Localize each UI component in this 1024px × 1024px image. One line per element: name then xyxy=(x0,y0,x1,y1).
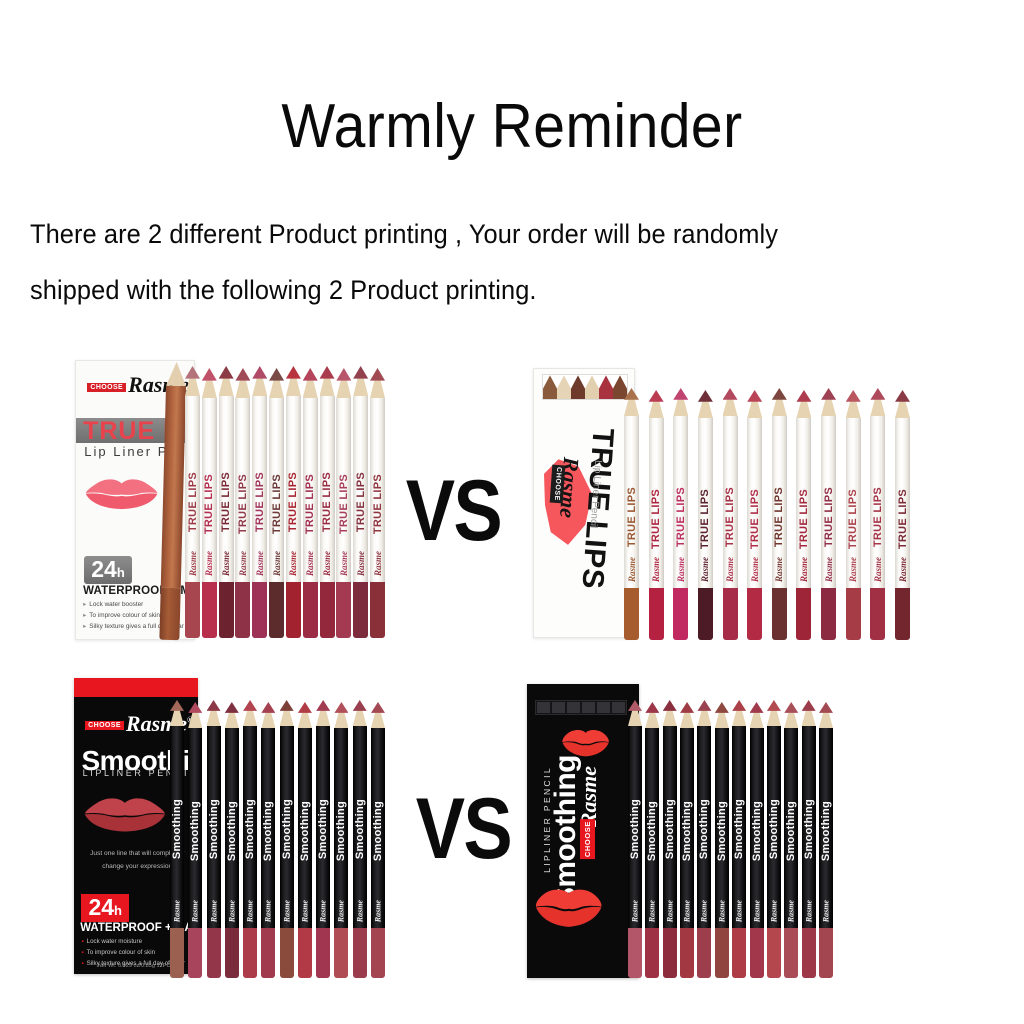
pencil-barrel: TRUE LIPSRasme xyxy=(320,396,335,582)
pencil-shade-end xyxy=(170,928,184,978)
pencil: SmoothingRasme xyxy=(371,702,385,978)
pencil: TRUE LIPSRasme xyxy=(772,388,787,640)
pencil-lead xyxy=(697,700,711,711)
pencil-barrel: SmoothingRasme xyxy=(645,728,659,928)
pencil-brand-script: Rasme xyxy=(750,557,760,582)
pencil-brand-script: Rasme xyxy=(339,551,349,576)
body-text-line-1: There are 2 different Product printing ,… xyxy=(30,218,946,250)
pencil-brand-script: Rasme xyxy=(373,551,383,576)
pencil-product-label: TRUE LIPS xyxy=(304,474,316,534)
pencil-lead xyxy=(747,390,762,402)
body-text-line-2: shipped with the following 2 Product pri… xyxy=(30,274,946,306)
pencil-product-label: TRUE LIPS xyxy=(237,474,249,534)
pencil-barrel: SmoothingRasme xyxy=(170,726,184,928)
pencil-lead xyxy=(698,390,713,402)
pencil-lead xyxy=(870,388,885,400)
choose-badge: CHOOSE xyxy=(580,819,595,859)
pencil-barrel: TRUE LIPSRasme xyxy=(895,418,910,588)
kiss-mark-icon xyxy=(534,878,603,937)
pencil-brand-script: Rasme xyxy=(221,551,231,576)
pencil-barrel: SmoothingRasme xyxy=(715,728,729,928)
pencil-shade-end xyxy=(185,582,200,638)
pencil-brand-script: Rasme xyxy=(683,900,692,922)
pencil-brand-script: Rasme xyxy=(822,900,831,922)
pencil-product-label: Smoothing xyxy=(262,801,274,861)
pencil-lead xyxy=(320,366,335,379)
pencil: TRUE LIPSRasme xyxy=(673,388,688,640)
pencil-barrel: TRUE LIPSRasme xyxy=(649,418,664,588)
pencil-product-label: Smoothing xyxy=(751,801,763,861)
pencil-shade-end xyxy=(649,588,664,640)
pencil-product-label: Smoothing xyxy=(354,799,366,859)
pencil: SmoothingRasme xyxy=(628,700,642,978)
pencil-brand-script: Rasme xyxy=(255,551,265,576)
pencil-shade-end xyxy=(624,588,639,640)
pencil-brand-script: Rasme xyxy=(319,900,328,922)
pencil: SmoothingRasme xyxy=(225,702,239,978)
pencil: TRUE LIPSRasme xyxy=(303,368,318,638)
pencil-barrel: TRUE LIPSRasme xyxy=(235,398,250,582)
pencil-product-label: TRUE LIPS xyxy=(650,489,662,549)
pencil-shade-end xyxy=(298,928,312,978)
pencil: SmoothingRasme xyxy=(207,700,221,978)
pencil-shade-end xyxy=(225,928,239,978)
pencil-product-label: Smoothing xyxy=(372,801,384,861)
infographic-canvas: Warmly Reminder There are 2 different Pr… xyxy=(0,0,1024,1024)
pencil-brand-script: Rasme xyxy=(787,900,796,922)
pencil-shade-end xyxy=(732,928,746,978)
pencil-shade-end xyxy=(767,928,781,978)
pencil-lead xyxy=(624,388,639,400)
pencil-lead xyxy=(628,700,642,711)
pencil-lead xyxy=(796,390,811,402)
lips-graphic xyxy=(85,475,158,514)
pencil: TRUE LIPSRasme xyxy=(269,368,284,638)
pencil-barrel: SmoothingRasme xyxy=(280,726,294,928)
pencil-barrel: SmoothingRasme xyxy=(225,728,239,928)
pencil-product-label: TRUE LIPS xyxy=(287,472,299,532)
pencil-brand-script: Rasme xyxy=(246,900,255,922)
pencil: TRUE LIPSRasme xyxy=(286,366,301,638)
pencil-shade-end xyxy=(280,928,294,978)
pencil-brand-script: Rasme xyxy=(651,557,661,582)
pencil-brand-script: Rasme xyxy=(337,900,346,922)
pencil-product-label: Smoothing xyxy=(189,801,201,861)
pencil-lead xyxy=(225,702,239,713)
pencil-product-label: Smoothing xyxy=(281,799,293,859)
pencil-barrel: SmoothingRasme xyxy=(334,728,348,928)
page-title: Warmly Reminder xyxy=(41,96,983,158)
pencil-lead xyxy=(772,388,787,400)
pencil-brand-script: Rasme xyxy=(804,900,813,922)
pencil-lead xyxy=(663,700,677,711)
lips-graphic xyxy=(84,793,166,837)
pencil-lead xyxy=(235,368,250,381)
pencil-lead xyxy=(334,702,348,713)
pencil: TRUE LIPSRasme xyxy=(353,366,368,638)
pencil-product-label: Smoothing xyxy=(664,799,676,859)
pencil-barrel: TRUE LIPSRasme xyxy=(219,396,234,582)
pencil-shade-end xyxy=(819,928,833,978)
pencil: TRUE LIPSRasme xyxy=(252,366,267,638)
pencil-lead xyxy=(673,388,688,400)
pencil-barrel: TRUE LIPSRasme xyxy=(370,398,385,582)
pencil-brand-script: Rasme xyxy=(173,900,182,922)
pencil-product-label: Smoothing xyxy=(226,801,238,861)
pencil-product-label: Smoothing xyxy=(208,799,220,859)
pencil-shade-end xyxy=(235,582,250,638)
pencil-lead xyxy=(767,700,781,711)
pencil-product-label: Smoothing xyxy=(768,799,780,859)
pencil-product-label: TRUE LIPS xyxy=(724,487,736,547)
pencil-lead xyxy=(298,702,312,713)
pencil-barrel: SmoothingRasme xyxy=(663,726,677,928)
pencil-barrel: SmoothingRasme xyxy=(750,728,764,928)
pencil-barrel: SmoothingRasme xyxy=(697,726,711,928)
pencil-barrel: SmoothingRasme xyxy=(784,728,798,928)
pencil-brand-script: Rasme xyxy=(752,900,761,922)
pencil-barrel: SmoothingRasme xyxy=(353,726,367,928)
pencil-barrel: TRUE LIPSRasme xyxy=(202,398,217,582)
pencil-brand-script: Rasme xyxy=(774,557,784,582)
pencil-barrel: SmoothingRasme xyxy=(261,728,275,928)
pencil: TRUE LIPSRasme xyxy=(723,388,738,640)
pencil-shade-end xyxy=(663,928,677,978)
pencil-lead xyxy=(715,702,729,713)
pencil-shade-end xyxy=(784,928,798,978)
pencil-product-label: Smoothing xyxy=(785,801,797,861)
pencil: TRUE LIPSRasme xyxy=(624,388,639,640)
pencil-tray xyxy=(535,700,627,715)
pencil-product-label: Smoothing xyxy=(244,799,256,859)
pencil-product-label: TRUE LIPS xyxy=(220,472,232,532)
pencil-product-label: TRUE LIPS xyxy=(187,472,199,532)
pencil-brand-script: Rasme xyxy=(282,900,291,922)
pencil-row-smoothing-black: SmoothingRasmeSmoothingRasmeSmoothingRas… xyxy=(170,700,385,978)
pencil-lead xyxy=(723,388,738,400)
pencil-shade-end xyxy=(796,588,811,640)
pencil-lead xyxy=(252,366,267,379)
pencil-product-label: TRUE LIPS xyxy=(271,474,283,534)
pencil-barrel: SmoothingRasme xyxy=(207,726,221,928)
choose-badge: CHOOSE xyxy=(85,721,124,730)
pencil-barrel: TRUE LIPSRasme xyxy=(673,416,688,588)
choose-badge: CHOOSE xyxy=(87,383,126,392)
pencil: SmoothingRasme xyxy=(261,702,275,978)
pencil-shade-end xyxy=(370,582,385,638)
pencil-brand-script: Rasme xyxy=(238,551,248,576)
pencil-lead xyxy=(336,368,351,381)
pencil-brand-script: Rasme xyxy=(355,900,364,922)
pencil-shade-end xyxy=(261,928,275,978)
pencil-product-label: Smoothing xyxy=(646,801,658,861)
pencil-shade-end xyxy=(846,588,861,640)
pencil: SmoothingRasme xyxy=(732,700,746,978)
pencil-brand-script: Rasme xyxy=(848,557,858,582)
pencil-lead xyxy=(649,390,664,402)
pencil-shade-end xyxy=(188,928,202,978)
pencil-barrel: TRUE LIPSRasme xyxy=(772,416,787,588)
pencil: SmoothingRasme xyxy=(280,700,294,978)
pencil-product-label: Smoothing xyxy=(171,799,183,859)
pencil-lead xyxy=(895,390,910,402)
pencil-brand-script: Rasme xyxy=(188,551,198,576)
pencil-barrel: TRUE LIPSRasme xyxy=(698,418,713,588)
pencil: TRUE LIPSRasme xyxy=(185,366,200,638)
pencil-barrel: SmoothingRasme xyxy=(371,728,385,928)
pencil-barrel: TRUE LIPSRasme xyxy=(269,398,284,582)
pencil-product-label: TRUE LIPS xyxy=(847,489,859,549)
pencil: TRUE LIPSRasme xyxy=(698,390,713,640)
pencil-lead xyxy=(185,366,200,379)
pencil-shade-end xyxy=(320,582,335,638)
pencil-brand-script: Rasme xyxy=(769,900,778,922)
duration-badge: 24h xyxy=(84,556,132,584)
pencil: SmoothingRasme xyxy=(243,700,257,978)
pencil-shade-end xyxy=(219,582,234,638)
pencil-barrel: TRUE LIPSRasme xyxy=(624,416,639,588)
pencil-brand-script: Rasme xyxy=(627,557,637,582)
pencil-shade-end xyxy=(895,588,910,640)
pencil-product-label: Smoothing xyxy=(299,801,311,861)
pencil-shade-end xyxy=(772,588,787,640)
pencil: SmoothingRasme xyxy=(316,700,330,978)
pencil-lead xyxy=(353,700,367,711)
pencil-product-label: Smoothing xyxy=(335,801,347,861)
pencil: TRUE LIPSRasme xyxy=(336,368,351,638)
pencil-lead xyxy=(819,702,833,713)
pencil-barrel: TRUE LIPSRasme xyxy=(185,396,200,582)
pencil: TRUE LIPSRasme xyxy=(870,388,885,640)
pencil: SmoothingRasme xyxy=(784,702,798,978)
pencil-shade-end xyxy=(802,928,816,978)
vs-label-bottom: VS xyxy=(416,786,511,872)
pencil-shade-end xyxy=(334,928,348,978)
pencil-shade-end xyxy=(316,928,330,978)
pencil: SmoothingRasme xyxy=(697,700,711,978)
pencil-shade-end xyxy=(202,582,217,638)
pencil-barrel: TRUE LIPSRasme xyxy=(723,416,738,588)
pencil-lead xyxy=(353,366,368,379)
pencil-shade-end xyxy=(723,588,738,640)
product-box-true-lips-swipe: TRUE LIPS Rasme CHOOSE Lip Liner Pencil xyxy=(533,368,635,638)
pencil-brand-script: Rasme xyxy=(209,900,218,922)
pencil-tray xyxy=(542,374,628,400)
pencil-product-label: TRUE LIPS xyxy=(372,474,384,534)
pencil-product-label: Smoothing xyxy=(733,799,745,859)
pencil-brand-script: Rasme xyxy=(898,557,908,582)
pencil-brand-script: Rasme xyxy=(824,557,834,582)
pencil-shade-end xyxy=(353,928,367,978)
pencil: SmoothingRasme xyxy=(353,700,367,978)
pencil-lead xyxy=(784,702,798,713)
pencil-brand-script: Rasme xyxy=(300,900,309,922)
pencil-row-smoothing-kiss: SmoothingRasmeSmoothingRasmeSmoothingRas… xyxy=(628,700,833,978)
pencil-product-label: Smoothing xyxy=(681,801,693,861)
pencil-barrel: TRUE LIPSRasme xyxy=(303,398,318,582)
vs-label-top: VS xyxy=(406,468,501,554)
pencil-product-label: Smoothing xyxy=(698,799,710,859)
pencil-product-label: TRUE LIPS xyxy=(897,489,909,549)
pencil-brand-script: Rasme xyxy=(676,557,686,582)
pencil-brand-script: Rasme xyxy=(374,900,383,922)
pencil-product-label: TRUE LIPS xyxy=(321,472,333,532)
pencil-shade-end xyxy=(243,928,257,978)
pencil-lead xyxy=(207,700,221,711)
pencil: SmoothingRasme xyxy=(802,700,816,978)
pencil: SmoothingRasme xyxy=(715,702,729,978)
pencil-brand-script: Rasme xyxy=(264,900,273,922)
pencil-row-true-lips-white: TRUE LIPSRasmeTRUE LIPSRasmeTRUE LIPSRas… xyxy=(185,366,385,638)
pencil-lead xyxy=(303,368,318,381)
pencil-shade-end xyxy=(336,582,351,638)
pencil-shade-end xyxy=(747,588,762,640)
pencil-lead xyxy=(750,702,764,713)
pencil-product-label: TRUE LIPS xyxy=(355,472,367,532)
pencil-barrel: SmoothingRasme xyxy=(243,726,257,928)
pencil-shade-end xyxy=(715,928,729,978)
pencil-brand-script: Rasme xyxy=(700,900,709,922)
pencil: SmoothingRasme xyxy=(334,702,348,978)
pencil-brand-script: Rasme xyxy=(665,900,674,922)
pencil-product-label: TRUE LIPS xyxy=(872,487,884,547)
pencil-barrel: TRUE LIPSRasme xyxy=(846,418,861,588)
pencil-barrel: TRUE LIPSRasme xyxy=(252,396,267,582)
pencil-barrel: TRUE LIPSRasme xyxy=(747,418,762,588)
pencil-brand-script: Rasme xyxy=(288,551,298,576)
choose-badge: CHOOSE xyxy=(550,465,566,504)
pencil-product-label: TRUE LIPS xyxy=(675,487,687,547)
pencil-lead xyxy=(202,368,217,381)
pencil-barrel: TRUE LIPSRasme xyxy=(821,416,836,588)
pencil: TRUE LIPSRasme xyxy=(235,368,250,638)
pencil-shade-end xyxy=(628,928,642,978)
pencil-shade-end xyxy=(303,582,318,638)
pencil-barrel: SmoothingRasme xyxy=(680,728,694,928)
pencil-product-label: Smoothing xyxy=(629,799,641,859)
pencil-lead xyxy=(371,702,385,713)
product-box-smoothing-kiss: Smoothing LIPLINER PENCIL Rasme CHOOSE xyxy=(527,684,639,978)
pencil-lead xyxy=(370,368,385,381)
pencil-lead xyxy=(269,368,284,381)
pencil: TRUE LIPSRasme xyxy=(821,388,836,640)
pencil-brand-script: Rasme xyxy=(717,900,726,922)
pencil: TRUE LIPSRasme xyxy=(219,366,234,638)
pencil-product-label: TRUE LIPS xyxy=(699,489,711,549)
pencil-barrel: SmoothingRasme xyxy=(732,726,746,928)
pencil-barrel: SmoothingRasme xyxy=(819,728,833,928)
duration-badge: 24h xyxy=(81,894,129,922)
pencil-product-label: TRUE LIPS xyxy=(254,472,266,532)
pencil-barrel: SmoothingRasme xyxy=(316,726,330,928)
pencil-brand-script: Rasme xyxy=(272,551,282,576)
pencil-barrel: SmoothingRasme xyxy=(767,726,781,928)
pencil-shade-end xyxy=(645,928,659,978)
pencil-lead xyxy=(846,390,861,402)
pencil-product-label: TRUE LIPS xyxy=(626,487,638,547)
pencil-brand-script: Rasme xyxy=(322,551,332,576)
pencil-brand-script: Rasme xyxy=(648,900,657,922)
pencil-barrel: TRUE LIPSRasme xyxy=(336,398,351,582)
pencil-brand-script: Rasme xyxy=(631,900,640,922)
pencil-product-label: Smoothing xyxy=(820,801,832,861)
pencil-shade-end xyxy=(680,928,694,978)
pencil: TRUE LIPSRasme xyxy=(202,368,217,638)
pencil-product-label: TRUE LIPS xyxy=(823,487,835,547)
pencil-shade-end xyxy=(870,588,885,640)
pencil-lead xyxy=(802,700,816,711)
red-header-strip xyxy=(74,678,198,697)
pencil: TRUE LIPSRasme xyxy=(796,390,811,640)
pencil-brand-script: Rasme xyxy=(725,557,735,582)
pencil-barrel: TRUE LIPSRasme xyxy=(353,396,368,582)
pencil: TRUE LIPSRasme xyxy=(320,366,335,638)
pencil-brand-script: Rasme xyxy=(735,900,744,922)
pencil-product-label: TRUE LIPS xyxy=(338,474,350,534)
pencil-brand-script: Rasme xyxy=(799,557,809,582)
pencil: SmoothingRasme xyxy=(750,702,764,978)
pencil: SmoothingRasme xyxy=(680,702,694,978)
pencil-brand-script: Rasme xyxy=(204,551,214,576)
pencil-brand-script: Rasme xyxy=(305,551,315,576)
pencil-product-label: TRUE LIPS xyxy=(749,489,761,549)
pencil-lead xyxy=(286,366,301,379)
pencil-lead xyxy=(732,700,746,711)
pencil-lead xyxy=(280,700,294,711)
pencil-barrel: TRUE LIPSRasme xyxy=(286,396,301,582)
pencil-product-label: Smoothing xyxy=(317,799,329,859)
pencil: TRUE LIPSRasme xyxy=(747,390,762,640)
pencil-shade-end xyxy=(269,582,284,638)
pencil-product-label: Smoothing xyxy=(803,799,815,859)
pencil-lead xyxy=(188,702,202,713)
pencil-shade-end xyxy=(286,582,301,638)
pencil-lead xyxy=(243,700,257,711)
product-subtitle: LIPLINER PENCIL xyxy=(542,766,552,873)
pencil-brand-script: Rasme xyxy=(700,557,710,582)
pencil: SmoothingRasme xyxy=(767,700,781,978)
pencil-shade-end xyxy=(750,928,764,978)
pencil-product-label: Smoothing xyxy=(716,801,728,861)
pencil-shade-end xyxy=(821,588,836,640)
pencil: SmoothingRasme xyxy=(170,700,184,978)
pencil-shade-end xyxy=(697,928,711,978)
pencil-lead xyxy=(219,366,234,379)
pencil-lead xyxy=(680,702,694,713)
pencil-brand-script: Rasme xyxy=(191,900,200,922)
pencil-barrel: SmoothingRasme xyxy=(628,726,642,928)
pencil: TRUE LIPSRasme xyxy=(649,390,664,640)
pencil-shade-end xyxy=(673,588,688,640)
pencil-barrel: TRUE LIPSRasme xyxy=(796,418,811,588)
pencil-brand-script: Rasme xyxy=(227,900,236,922)
pencil-lead xyxy=(645,702,659,713)
pencil: TRUE LIPSRasme xyxy=(370,368,385,638)
pencil-lead xyxy=(170,700,184,711)
pencil: SmoothingRasme xyxy=(663,700,677,978)
pencil-shade-end xyxy=(207,928,221,978)
pencil-product-label: TRUE LIPS xyxy=(203,474,215,534)
pencil-barrel: TRUE LIPSRasme xyxy=(870,416,885,588)
pencil-brand-script: Rasme xyxy=(873,557,883,582)
tagline-line-2: change your expression xyxy=(102,863,172,870)
pencil-shade-end xyxy=(353,582,368,638)
pencil-lead xyxy=(821,388,836,400)
pencil: TRUE LIPSRasme xyxy=(846,390,861,640)
pencil-product-label: TRUE LIPS xyxy=(773,487,785,547)
pencil-barrel: SmoothingRasme xyxy=(802,726,816,928)
pencil: SmoothingRasme xyxy=(819,702,833,978)
